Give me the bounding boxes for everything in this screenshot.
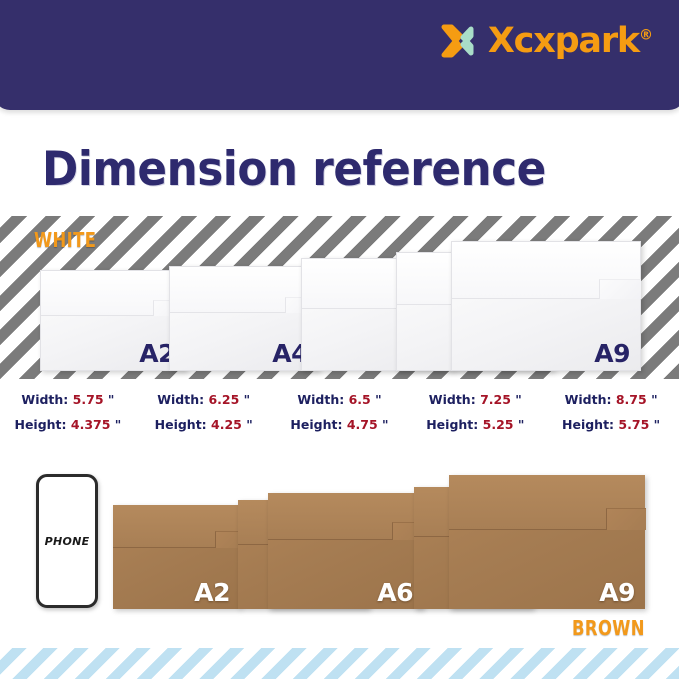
height-label: Height: [155,417,207,432]
unit-label: " [108,392,115,407]
brown-envelope-a9: A9 [449,475,645,609]
width-label: Width: [565,392,612,407]
infographic-page: Xcxpark® Dimension reference WHITE A2 A4… [0,0,679,679]
height-label: Height: [290,417,342,432]
dimension-width-a4: Width: 6.25 " [136,392,272,407]
unit-label: " [375,392,382,407]
width-label: Width: [157,392,204,407]
height-label: Height: [14,417,66,432]
height-value: 4.75 [347,417,378,432]
width-value: 6.5 [349,392,371,407]
unit-label: " [244,392,251,407]
unit-label: " [515,392,522,407]
white-section-label: WHITE [34,228,96,252]
phone-size-reference: PHONE [36,474,98,608]
brand-logo: Xcxpark® [437,20,653,62]
height-value: 4.25 [211,417,242,432]
unit-label: " [382,417,389,432]
phone-label: PHONE [45,535,90,548]
dimension-width-a7: Width: 7.25 " [407,392,543,407]
envelope-size-label: A6 [377,580,413,605]
dimension-height-a9: Height: 5.75 " [543,417,679,432]
dimension-height-a4: Height: 4.25 " [136,417,272,432]
brown-section-label: BROWN [572,616,645,640]
white-envelope-a2: A2 [40,270,186,371]
dimension-height-row: Height: 4.375 " Height: 4.25 " Height: 4… [0,417,679,432]
width-value: 8.75 [616,392,647,407]
unit-label: " [651,392,658,407]
envelope-flap [268,493,423,540]
brown-envelope-a2: A2 [113,505,240,609]
unit-label: " [115,417,122,432]
brown-envelope-a6: A6 [268,493,423,609]
header-bar: Xcxpark® [0,0,679,110]
envelope-flap [170,267,318,313]
dimension-width-row: Width: 5.75 " Width: 6.25 " Width: 6.5 "… [0,392,679,407]
brand-name-text: Xcxpark [488,21,639,61]
dimension-width-a6: Width: 6.5 " [272,392,408,407]
unit-label: " [246,417,253,432]
dimension-width-a9: Width: 8.75 " [543,392,679,407]
unit-label: " [654,417,661,432]
envelope-flap [113,505,240,548]
width-label: Width: [429,392,476,407]
dimension-width-a2: Width: 5.75 " [0,392,136,407]
height-label: Height: [426,417,478,432]
registered-trademark-mark: ® [639,27,653,43]
width-value: 6.25 [208,392,239,407]
width-value: 5.75 [73,392,104,407]
height-label: Height: [562,417,614,432]
envelope-flap [41,271,185,316]
dimension-height-a2: Height: 4.375 " [0,417,136,432]
envelope-flap [452,242,640,299]
envelope-size-label: A9 [594,341,630,366]
height-value: 5.75 [618,417,649,432]
envelope-size-label: A9 [599,580,635,605]
unit-label: " [518,417,525,432]
dimension-height-a6: Height: 4.75 " [272,417,408,432]
x-cross-logo-icon [437,20,479,62]
height-value: 5.25 [483,417,514,432]
envelope-flap [449,475,645,530]
white-envelope-a9: A9 [451,241,641,371]
white-envelope-a4: A4 [169,266,319,371]
blue-stripe-band [0,648,679,679]
brand-name: Xcxpark® [488,24,653,59]
width-label: Width: [21,392,68,407]
envelope-size-label: A2 [194,580,230,605]
width-label: Width: [297,392,344,407]
width-value: 7.25 [480,392,511,407]
dimension-height-a7: Height: 5.25 " [407,417,543,432]
height-value: 4.375 [71,417,111,432]
page-title: Dimension reference [42,142,546,197]
